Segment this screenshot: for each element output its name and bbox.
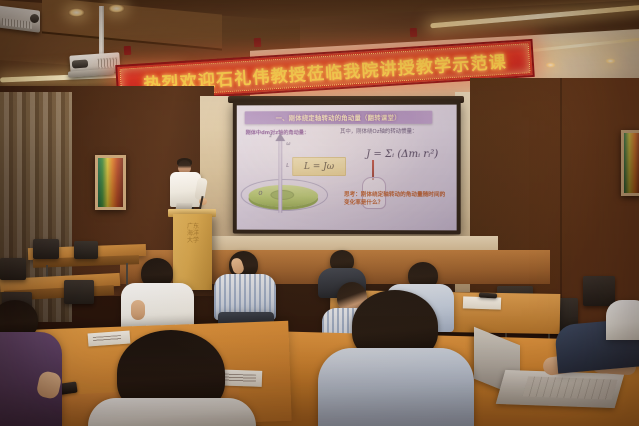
downlight-icon (108, 4, 125, 13)
slide-axis-arrow-icon (275, 133, 285, 141)
downlight-icon (605, 58, 616, 64)
podium-engraved-text: 广东海洋大学 (187, 224, 199, 245)
projector-mount-pole (99, 6, 104, 58)
wall-painting-right (621, 130, 639, 196)
chair (583, 276, 615, 306)
slide-label-L: L (286, 163, 289, 169)
slide-subtitle-right: 其中，刚体绕Oz轴的转动惯量： (340, 127, 417, 135)
chair (74, 241, 98, 259)
slide-label-z: z (269, 133, 272, 139)
slide-main-formula: J = Σᵢ (Δmᵢ rᵢ²) (356, 149, 449, 160)
chair (0, 258, 26, 280)
chair (64, 280, 94, 304)
slide-think-question: 思考：刚体绕定轴转动的角动量随时间的变化率是什么？ (344, 191, 449, 207)
projection-screen-frame: 一、刚体绕定轴转动的角动量（翻转课堂） 刚体中dm对z轴的角动量： 其中，刚体绕… (233, 101, 461, 235)
banner-mount-right (410, 28, 418, 37)
banner-mount-mid (254, 38, 262, 47)
attendee-torso-foreground (88, 398, 256, 426)
attendee-hand (131, 300, 145, 320)
slide-label-omega: ω (286, 141, 290, 147)
attendee-torso-foreground (318, 348, 474, 426)
wall-painting-left (95, 155, 126, 210)
slide-disk-hub (270, 190, 294, 200)
laptop-keyboard (523, 376, 618, 399)
slide-boxed-formula: L = Jω (292, 157, 346, 176)
chair (33, 239, 59, 259)
downlight-icon (545, 62, 556, 68)
downlight-icon (68, 8, 85, 17)
projector-lens-icon (72, 59, 89, 68)
table-leg (126, 263, 128, 287)
slide-rotation-axis (278, 139, 282, 213)
attendee-torso (606, 300, 639, 340)
banner-mount-left (124, 46, 132, 55)
lecture-hall-photo: 热烈欢迎石礼伟教授莅临我院讲授教学示范课 一、刚体绕定轴转动的角动量（翻转课堂）… (0, 0, 639, 426)
slide-title: 一、刚体绕定轴转动的角动量（翻转课堂） (245, 111, 433, 125)
projection-screen: 一、刚体绕定轴转动的角动量（翻转课堂） 刚体中dm对z轴的角动量： 其中，刚体绕… (237, 105, 457, 231)
wall-seam (560, 78, 562, 328)
slide-label-origin: O (259, 191, 263, 197)
pen-on-table (479, 293, 497, 299)
